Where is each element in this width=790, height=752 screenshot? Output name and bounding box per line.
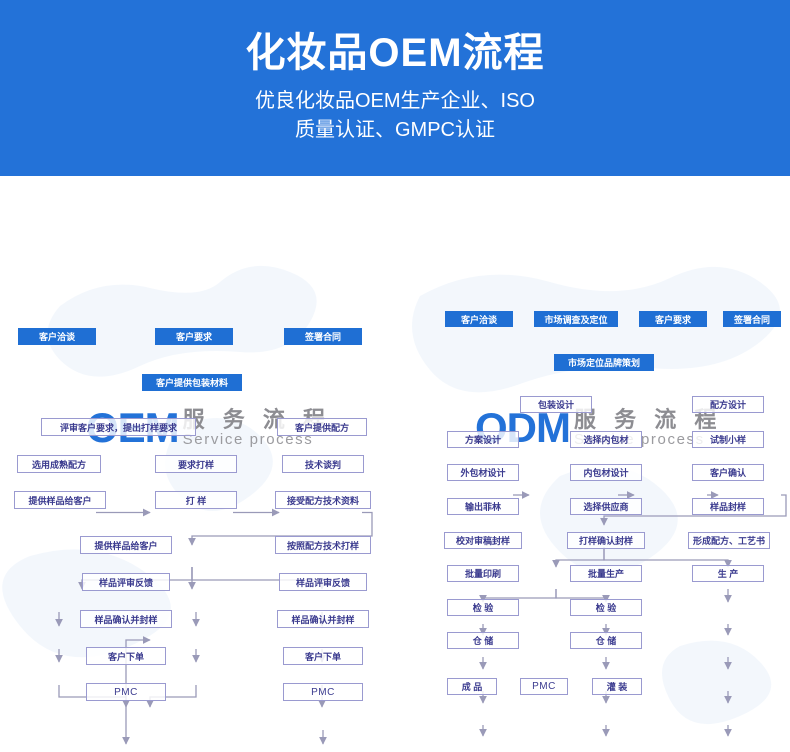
odm-flow-node: 生 产 [692,565,764,582]
odm-flow-node: PMC [520,678,568,695]
odm-flow-node: 检 验 [570,599,642,616]
flowchart-canvas: OEM 服 务 流 程 Service process ODM 服 务 流 程 … [0,176,790,752]
odm-flow-node: 打样确认封样 [567,532,645,549]
odm-flow-node: 内包材设计 [570,464,642,481]
odm-flow-node: 选择供应商 [570,498,642,515]
odm-flow-node: 校对审稿封样 [444,532,522,549]
banner-subtitle-line-2: 质量认证、GMPC认证 [255,116,535,145]
banner-subtitle: 优良化妆品OEM生产企业、ISO 质量认证、GMPC认证 [255,87,535,145]
odm-flow-node: 检 验 [447,599,519,616]
odm-flowchart: 客户洽谈市场调查及定位客户要求签署合同市场定位品牌策划包装设计配方设计方案设计选… [0,176,790,752]
odm-flow-node: 客户要求 [639,311,707,327]
odm-flow-node: 选择内包材 [570,431,642,448]
odm-flow-node: 批量生产 [570,565,642,582]
odm-flow-node: 形成配方、工艺书 [688,532,770,549]
odm-flow-node: 外包材设计 [447,464,519,481]
odm-flow-node: 仓 储 [447,632,519,649]
page-banner: 化妆品OEM流程 优良化妆品OEM生产企业、ISO 质量认证、GMPC认证 [0,0,790,176]
odm-flow-node: 仓 储 [570,632,642,649]
odm-flow-node: 方案设计 [447,431,519,448]
odm-flow-node: 市场定位品牌策划 [554,354,654,371]
odm-flow-node: 客户确认 [692,464,764,481]
odm-flow-node: 批量印刷 [447,565,519,582]
banner-subtitle-line-1: 优良化妆品OEM生产企业、ISO [255,87,535,116]
odm-flow-node: 包装设计 [520,396,592,413]
odm-flow-node: 输出菲林 [447,498,519,515]
odm-flow-node: 样品封样 [692,498,764,515]
odm-flow-node: 市场调查及定位 [534,311,618,327]
odm-flow-node: 签署合同 [723,311,781,327]
odm-flow-node: 试制小样 [692,431,764,448]
odm-flow-node: 客户洽谈 [445,311,513,327]
odm-flow-node: 灌 装 [592,678,642,695]
odm-flow-node: 成 品 [447,678,497,695]
banner-title: 化妆品OEM流程 [245,31,544,75]
odm-flow-node: 配方设计 [692,396,764,413]
